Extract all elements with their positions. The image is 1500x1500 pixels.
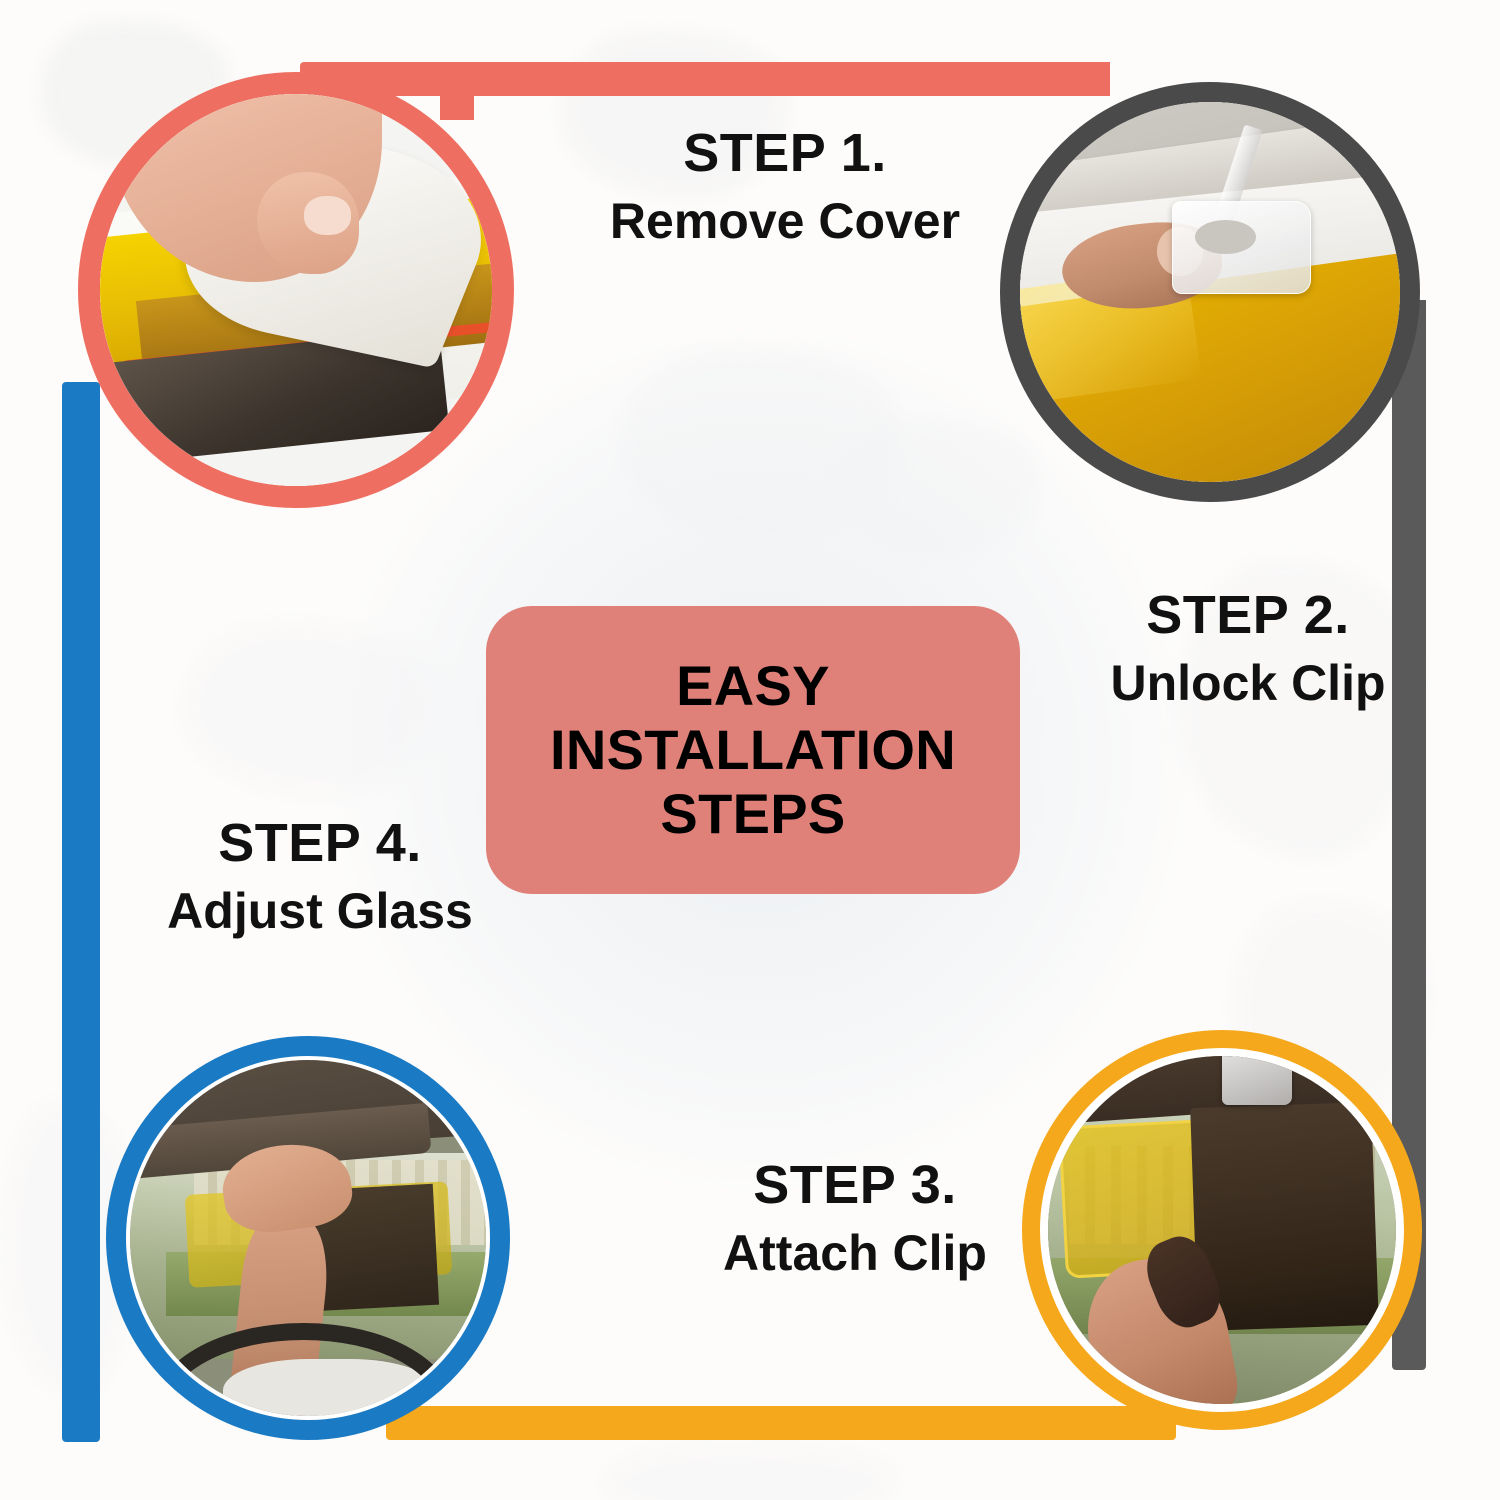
step-1-label: STEP 1. Remove Cover <box>560 126 1010 250</box>
step-1-subheading: Remove Cover <box>560 193 1010 250</box>
connector-bottom-orange <box>386 1406 1176 1440</box>
badge-line-2: INSTALLATION <box>550 718 956 782</box>
step-1-heading: STEP 1. <box>560 126 1010 181</box>
step-4-photo <box>130 1060 486 1416</box>
step-1-photo <box>100 94 492 486</box>
step-3-photo <box>1048 1056 1396 1404</box>
step-3-heading: STEP 3. <box>660 1158 1050 1213</box>
step-4-heading: STEP 4. <box>120 816 520 871</box>
connector-left-blue <box>62 382 100 1442</box>
center-title-text: EASY INSTALLATION STEPS <box>550 654 956 845</box>
step-2-photo <box>1020 102 1400 482</box>
connector-top-salmon <box>300 62 1110 96</box>
step-2-subheading: Unlock Clip <box>1048 655 1448 712</box>
step-2-label: STEP 2. Unlock Clip <box>1048 588 1448 712</box>
step-4-subheading: Adjust Glass <box>120 883 520 940</box>
step-2-heading: STEP 2. <box>1048 588 1448 643</box>
step-4-label: STEP 4. Adjust Glass <box>120 816 520 940</box>
step-3-label: STEP 3. Attach Clip <box>660 1158 1050 1282</box>
badge-line-3: STEPS <box>550 782 956 846</box>
center-title-badge: EASY INSTALLATION STEPS <box>486 606 1020 894</box>
infographic-canvas: STEP 1. Remove Cover STEP 2. Unlock Clip… <box>0 0 1500 1500</box>
step-3-subheading: Attach Clip <box>660 1225 1050 1282</box>
badge-line-1: EASY <box>550 654 956 718</box>
